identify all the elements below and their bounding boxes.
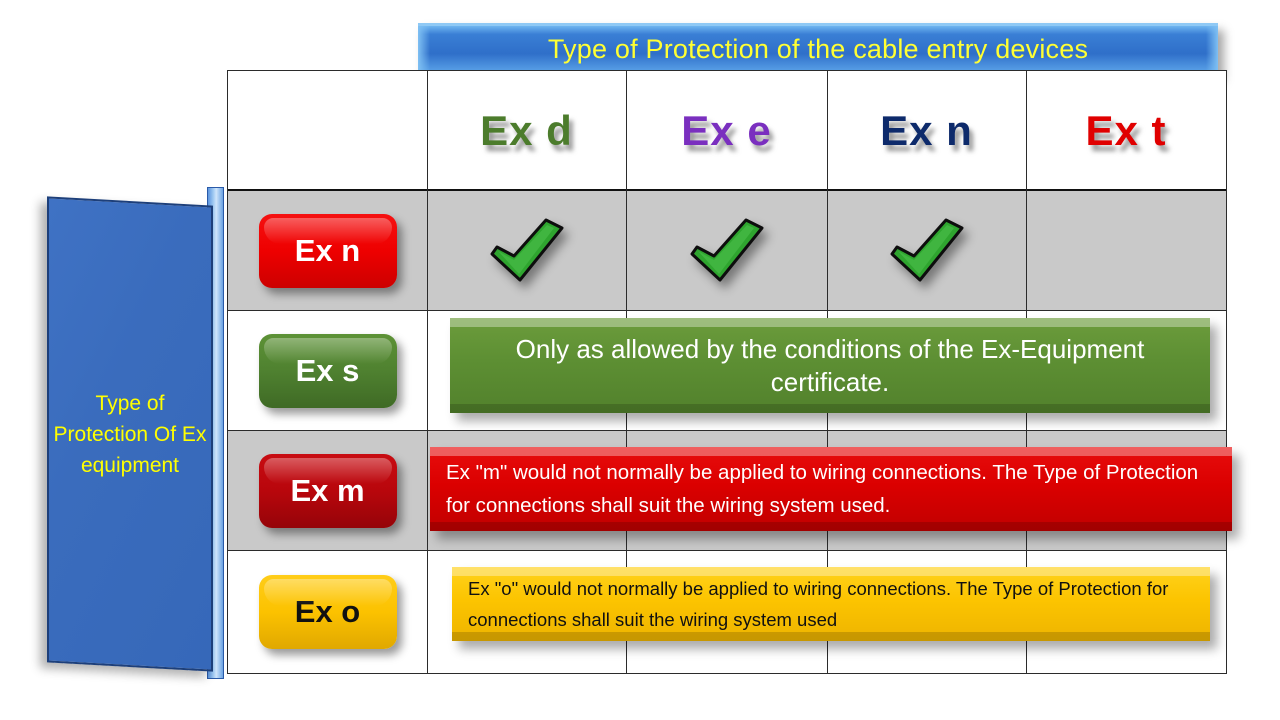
column-divider <box>427 431 428 551</box>
note-banner-ex-m: Ex "m" would not normally be applied to … <box>430 447 1232 531</box>
row-label-cell-ex-n: Ex n <box>228 191 427 310</box>
note-banner-text: Ex "o" would not normally be applied to … <box>468 573 1194 635</box>
cell-exn-exd <box>427 191 626 310</box>
header-cell-corner <box>228 71 427 191</box>
note-banner-text: Ex "m" would not normally be applied to … <box>446 456 1216 522</box>
column-divider <box>827 191 828 311</box>
column-divider <box>427 191 428 311</box>
side-panel-label: Type of Protection Of Ex equipment <box>49 388 211 481</box>
table-header-row: Ex d Ex e Ex n Ex t <box>228 71 1226 191</box>
title-banner-label: Type of Protection of the cable entry de… <box>548 34 1088 65</box>
column-divider <box>427 71 428 191</box>
note-banner-text: Only as allowed by the conditions of the… <box>474 333 1186 399</box>
row-label-cell-ex-m: Ex m <box>228 431 427 550</box>
column-divider <box>626 71 627 191</box>
header-cell-ex-e: Ex e <box>626 71 827 191</box>
cell-exn-exe <box>626 191 827 310</box>
column-divider <box>1026 71 1027 191</box>
row-label-cell-ex-s: Ex s <box>228 311 427 430</box>
side-panel: Type of Protection Of Ex equipment <box>47 187 225 677</box>
column-divider <box>626 191 627 311</box>
row-label-pill: Ex n <box>259 214 397 288</box>
title-banner: Type of Protection of the cable entry de… <box>418 23 1218 75</box>
row-label-pill: Ex m <box>259 454 397 528</box>
header-cell-ex-d: Ex d <box>427 71 626 191</box>
row-label-cell-ex-o: Ex o <box>228 551 427 673</box>
cell-exn-exn <box>827 191 1026 310</box>
column-divider <box>427 311 428 431</box>
column-divider <box>1026 191 1027 311</box>
row-label-pill: Ex s <box>259 334 397 408</box>
note-banner-ex-o: Ex "o" would not normally be applied to … <box>452 567 1210 641</box>
column-divider <box>827 71 828 191</box>
green-check-icon <box>684 216 770 286</box>
green-check-icon <box>484 216 570 286</box>
cell-exn-ext-empty <box>1026 191 1226 310</box>
note-banner-ex-s: Only as allowed by the conditions of the… <box>450 318 1210 413</box>
column-divider <box>427 551 428 673</box>
header-cell-ex-t: Ex t <box>1026 71 1226 191</box>
table-row: Ex n <box>228 191 1226 311</box>
side-panel-face: Type of Protection Of Ex equipment <box>47 196 213 671</box>
green-check-icon <box>884 216 970 286</box>
row-label-pill: Ex o <box>259 575 397 649</box>
header-cell-ex-n: Ex n <box>827 71 1026 191</box>
